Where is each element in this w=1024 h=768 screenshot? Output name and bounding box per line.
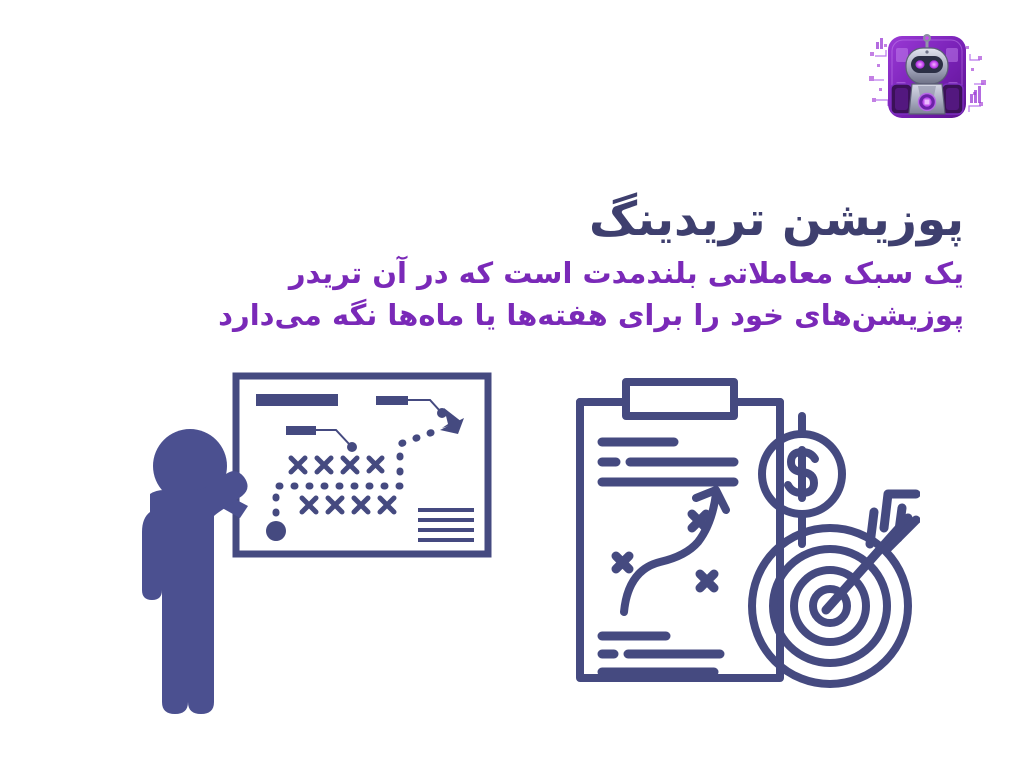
board-headline-bar bbox=[256, 394, 338, 406]
clipboard-x-marks bbox=[616, 514, 714, 588]
board-leader-dot-mid bbox=[347, 442, 357, 452]
robot-eye-right bbox=[929, 60, 938, 68]
robot-head bbox=[906, 48, 948, 84]
slide-root: پوزیشن تریدینگ یک سبک معاملاتی بلندمدت ا… bbox=[0, 0, 1024, 768]
clipboard-bottom-text-lines bbox=[602, 636, 720, 672]
board-label-bar-mid bbox=[286, 426, 316, 435]
s-curve-growth-arrow bbox=[624, 490, 726, 612]
subtitle-line-2: پوزیشن‌های خود را برای هفته‌ها یا ماه‌ها… bbox=[84, 294, 964, 336]
path-start-dot bbox=[266, 521, 286, 541]
presenter-with-strategy-board-illustration bbox=[128, 366, 500, 738]
arrow-fletching-two bbox=[870, 512, 874, 544]
robot-eye-left bbox=[915, 60, 924, 68]
page-subtitle: یک سبک معاملاتی بلندمدت است که در آن تری… bbox=[84, 252, 964, 336]
clipboard-clip bbox=[626, 382, 734, 416]
clipboard-target-dollar-illustration bbox=[568, 368, 920, 712]
robot-mascot-logo[interactable] bbox=[866, 22, 988, 130]
dollar-symbol bbox=[788, 450, 815, 498]
robot-torso bbox=[909, 84, 945, 114]
subtitle-line-1: یک سبک معاملاتی بلندمدت است که در آن تری… bbox=[84, 252, 964, 294]
board-label-bar-top bbox=[376, 396, 408, 405]
clipboard-top-text-lines bbox=[602, 442, 734, 482]
person-silhouette-pointing bbox=[142, 429, 248, 714]
page-title: پوزیشن تریدینگ bbox=[84, 191, 964, 250]
